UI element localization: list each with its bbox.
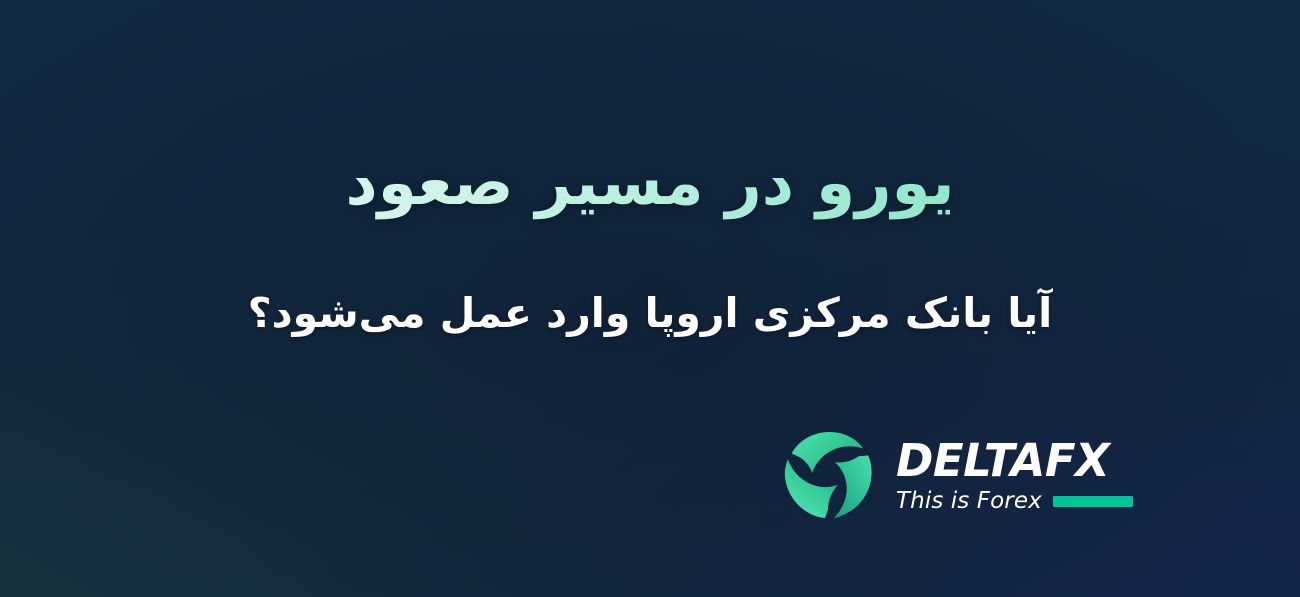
subheadline: آیا بانک مرکزی اروپا وارد عمل می‌شود؟: [110, 285, 1190, 342]
logo-tagline: This is Forex: [896, 490, 1042, 513]
brand-logo-lockup: DELTAFX This is Forex: [780, 424, 1133, 522]
logo-tagline-row: This is Forex: [896, 490, 1133, 513]
deltafx-pinwheel-icon: [780, 424, 878, 522]
promo-banner: یورو در مسیر صعود آیا بانک مرکزی اروپا و…: [0, 0, 1300, 597]
banner-content: یورو در مسیر صعود آیا بانک مرکزی اروپا و…: [0, 0, 1300, 597]
logo-wordmark: DELTAFX: [896, 438, 1133, 483]
headline: یورو در مسیر صعود: [140, 143, 1160, 222]
logo-text-block: DELTAFX This is Forex: [896, 434, 1133, 513]
logo-accent-bar: [1053, 496, 1133, 507]
